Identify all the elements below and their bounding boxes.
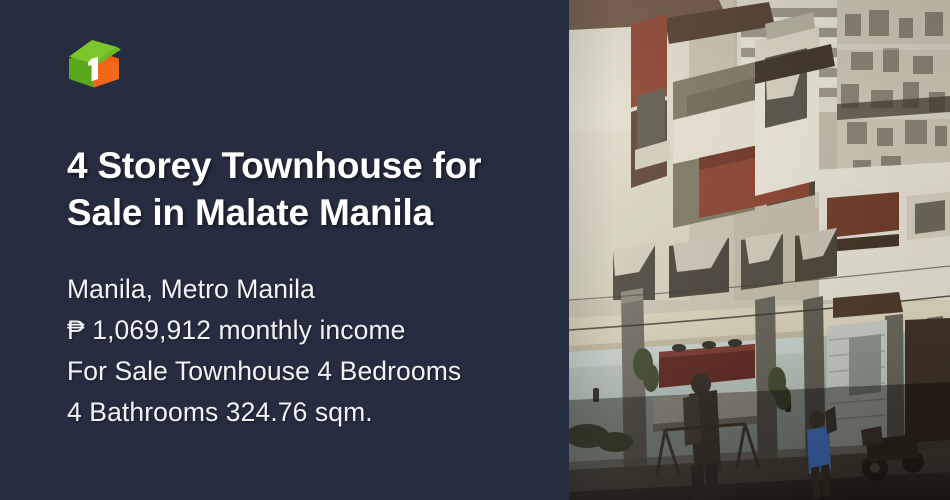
listing-meta: Manila, Metro Manila ₱ 1,069,912 monthly… [67,269,547,433]
listing-details-2: 4 Bathrooms 324.76 sqm. [67,392,547,433]
listing-location: Manila, Metro Manila [67,269,547,310]
listing-price: ₱ 1,069,912 monthly income [67,310,547,351]
property-listing-card: 4 Storey Townhouse for Sale in Malate Ma… [0,0,950,500]
house-one-logo[interactable] [64,34,124,94]
property-photo [569,0,950,500]
listing-title: 4 Storey Townhouse for Sale in Malate Ma… [67,142,537,236]
listing-details-1: For Sale Townhouse 4 Bedrooms [67,351,547,392]
listing-info-panel: 4 Storey Townhouse for Sale in Malate Ma… [0,0,569,500]
